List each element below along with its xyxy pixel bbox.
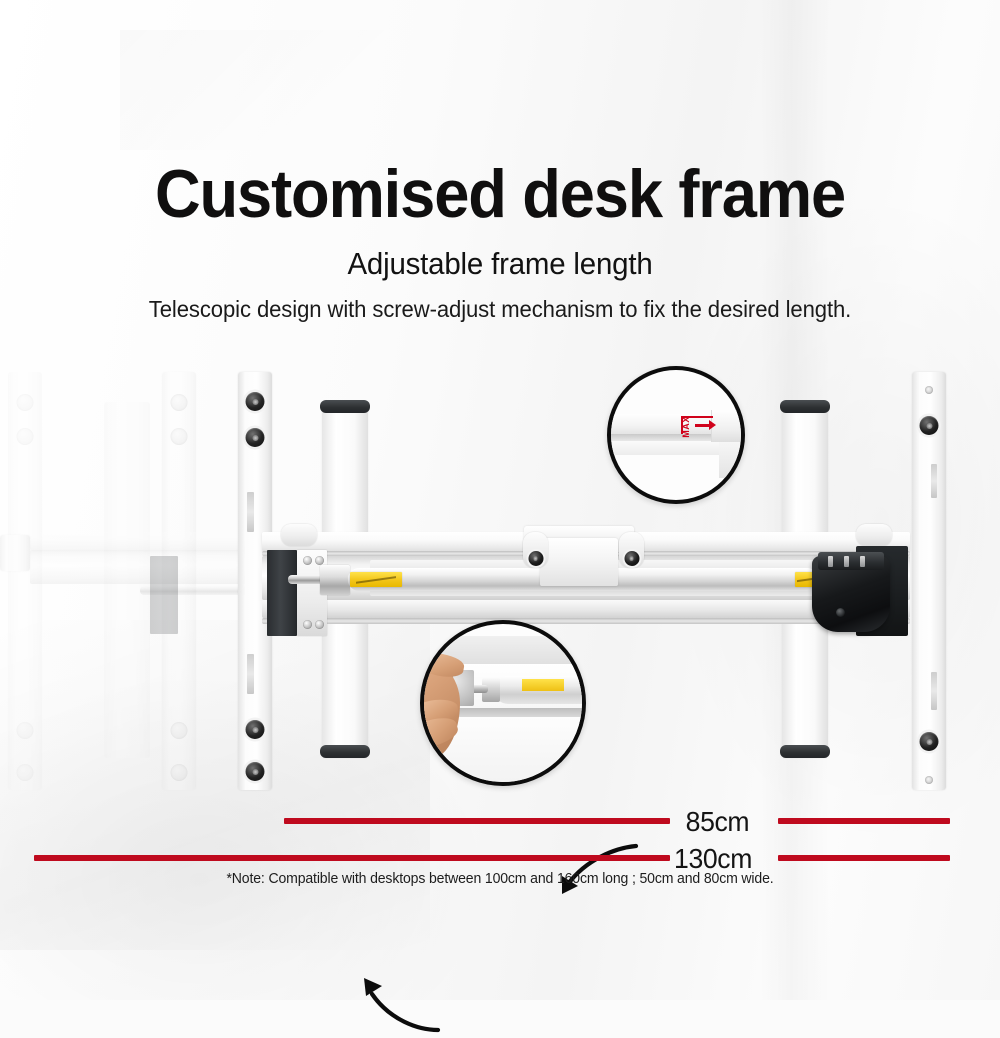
joint-screw-right [624,551,639,566]
joint-tab-right [619,532,644,568]
foot-pad-top-left [320,400,370,413]
rail-slot [931,464,937,498]
page-title: Customised desk frame [35,160,965,228]
screw-bolt [920,416,939,435]
screw-hole [171,722,188,739]
leg-rail-edge-left [0,535,30,571]
foot-pad-top-right [780,400,830,413]
bracket-bolt [303,620,312,629]
arrow-to-screw-nut [348,972,444,1038]
motor-fin [860,556,865,567]
screw-hole [171,428,188,445]
mount-bracket-ghost [150,556,178,634]
rail-slot [931,672,937,710]
adjust-nut [320,565,350,595]
joint-screw-left [528,551,543,566]
screw-hole [171,394,188,411]
screw-hole [17,428,34,445]
motor-fin [844,556,849,567]
callout-max-marker: MAX [607,366,745,504]
screw-hole [17,394,34,411]
screw-bolt [246,428,265,447]
dimension-line-85-right [778,818,950,824]
screw-bolt [246,392,265,411]
screw-hole [925,776,933,784]
screw-bolt [246,720,265,739]
warning-sticker [350,572,402,587]
bracket-bolt [315,620,324,629]
motor-fin [828,556,833,567]
centre-joint-body [540,538,618,586]
page-subtitle: Adjustable frame length [25,248,975,279]
screw-hole [17,764,34,781]
leg-rail-right [912,372,946,790]
mount-bracket-left [267,550,297,636]
foot-pad-bottom-left [320,745,370,758]
rail-slot [247,654,254,694]
dimension-line-85-left [284,818,670,824]
rail-slot [247,492,254,532]
screw-bolt [246,762,265,781]
dimension-line-130-left [34,855,670,861]
compatibility-note: *Note: Compatible with desktops between … [15,872,985,887]
crossbeam-lower-edge [262,618,910,624]
bracket-bolt [303,556,312,565]
page-tagline: Telescopic design with screw-adjust mech… [20,298,980,321]
joint-tab-left [523,532,548,568]
beam-hinge-tab-left [281,524,317,546]
screw-hole [17,722,34,739]
bracket-bolt [315,556,324,565]
dimension-label-85: 85cm [686,808,750,836]
desk-frame-illustration: MAX [0,360,1000,800]
screw-hole [925,386,933,394]
dimension-label-130: 130cm [674,845,752,873]
foot-pad-bottom-right [780,745,830,758]
callout-screw-adjust [420,620,586,786]
max-marker-arrow-head [709,420,716,430]
dimension-line-130-right [778,855,950,861]
max-marker-label: MAX [681,416,691,438]
background-band-upper-left [120,30,420,150]
motor-bolt [836,608,845,617]
beam-hinge-tab-right [856,524,892,546]
infographic-canvas: Customised desk frame Adjustable frame l… [0,0,1000,1000]
screw-bolt [920,732,939,751]
screw-hole [171,764,188,781]
